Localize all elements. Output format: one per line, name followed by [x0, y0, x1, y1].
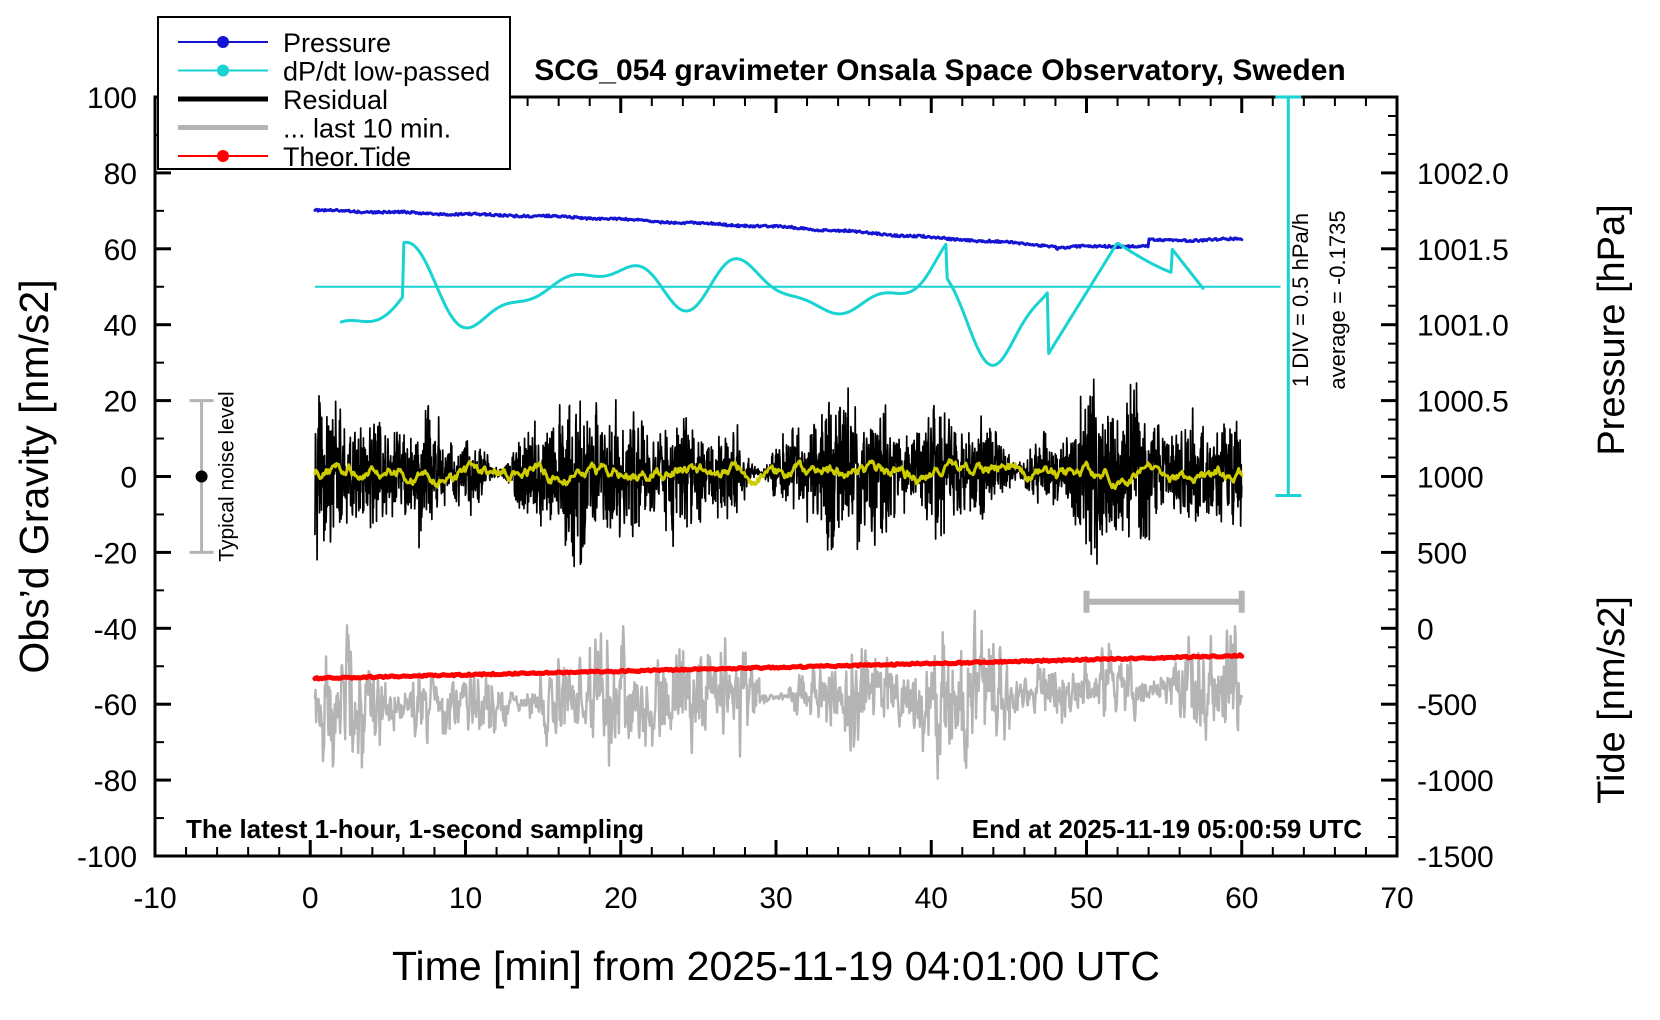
x-tick-label: 30: [759, 882, 792, 915]
tide-tick-label: 1000: [1417, 462, 1484, 495]
pressure-axis-title: Pressure [hPa]: [1591, 204, 1633, 455]
axis-labels-group: -10010203040506070-100-80-60-40-20020406…: [11, 54, 1633, 989]
x-tick-label: 70: [1380, 882, 1413, 915]
y-axis-title: Obs’d Gravity [nm/s2]: [11, 279, 57, 673]
x-tick-label: -10: [133, 882, 176, 915]
last-10min-series: [315, 611, 1242, 779]
pressure-tick-label: 1001.0: [1417, 310, 1509, 343]
legend-marker-dot: [217, 150, 229, 162]
y-tick-label: -60: [94, 689, 137, 722]
legend-item-label[interactable]: ... last 10 min.: [283, 114, 451, 144]
legend-item-label[interactable]: Theor.Tide: [283, 142, 411, 172]
y-tick-label: 100: [87, 82, 137, 115]
x-tick-label: 40: [915, 882, 948, 915]
bottom-right-note: End at 2025-11-19 05:00:59 UTC: [972, 814, 1362, 844]
noise-level-dot: [196, 471, 208, 483]
pressure-tick-label: 1002.0: [1417, 158, 1509, 191]
gravimeter-chart-figure: Typical noise level1 DIV = 0.5 hPa/haver…: [0, 0, 1660, 1020]
y-tick-label: -40: [94, 613, 137, 646]
x-tick-label: 50: [1070, 882, 1103, 915]
div-scale-label: 1 DIV = 0.5 hPa/h: [1288, 213, 1313, 387]
pressure-tick-label: 1001.5: [1417, 234, 1509, 267]
y-tick-label: 40: [104, 310, 137, 343]
x-tick-label: 0: [302, 882, 319, 915]
dpdt-lowpassed-series: [341, 242, 1203, 365]
x-tick-label: 60: [1225, 882, 1258, 915]
y-tick-label: 80: [104, 158, 137, 191]
tide-axis-title: Tide [nm/s2]: [1591, 596, 1633, 804]
average-label: average = -0.1735: [1325, 210, 1350, 389]
tide-tick-label: 500: [1417, 537, 1467, 570]
data-series-group: [315, 209, 1281, 778]
legend-group: PressuredP/dt low-passedResidual... last…: [158, 17, 510, 172]
chart-title: SCG_054 gravimeter Onsala Space Observat…: [534, 54, 1346, 87]
legend-item-label[interactable]: Residual: [283, 85, 388, 115]
tide-tick-label: -1500: [1417, 841, 1494, 874]
pressure-series: [315, 209, 1242, 249]
bottom-left-note: The latest 1-hour, 1-second sampling: [186, 814, 644, 844]
x-axis-title: Time [min] from 2025-11-19 04:01:00 UTC: [392, 943, 1160, 989]
tide-tick-label: -500: [1417, 689, 1477, 722]
legend-item-label[interactable]: Pressure: [283, 28, 391, 58]
legend-marker-dot: [217, 65, 229, 77]
y-tick-label: -100: [77, 841, 137, 874]
legend-marker-dot: [217, 36, 229, 48]
x-tick-label: 20: [604, 882, 637, 915]
pressure-tick-label: 1000.5: [1417, 386, 1509, 419]
tide-tick-label: 0: [1417, 613, 1434, 646]
y-tick-label: 0: [120, 462, 137, 495]
y-tick-label: -20: [94, 537, 137, 570]
noise-level-label: Typical noise level: [216, 391, 239, 561]
y-tick-label: 60: [104, 234, 137, 267]
chart-canvas: Typical noise level1 DIV = 0.5 hPa/haver…: [0, 0, 1660, 1020]
y-tick-label: 20: [104, 386, 137, 419]
y-tick-label: -80: [94, 765, 137, 798]
legend-item-label[interactable]: dP/dt low-passed: [283, 57, 490, 87]
x-tick-label: 10: [449, 882, 482, 915]
tide-tick-label: -1000: [1417, 765, 1494, 798]
